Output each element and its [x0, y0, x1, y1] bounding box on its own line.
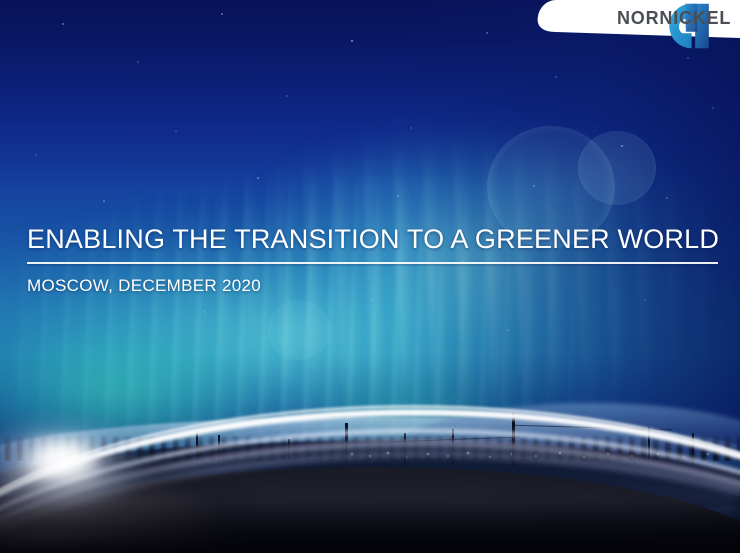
slide-subtitle: MOSCOW, DECEMBER 2020: [27, 276, 719, 296]
presentation-cover-slide: NORNICKEL ENABLING THE TRANSITION TO A G…: [0, 0, 740, 553]
nornickel-n-logo-icon: [573, 3, 607, 35]
title-block: ENABLING THE TRANSITION TO A GREENER WOR…: [27, 222, 719, 296]
headlight-core: [26, 436, 100, 480]
slide-title: ENABLING THE TRANSITION TO A GREENER WOR…: [27, 222, 719, 256]
brand-logo-banner: NORNICKEL: [500, 0, 740, 46]
title-divider-rule: [27, 262, 718, 264]
nornickel-wordmark: NORNICKEL: [617, 8, 731, 29]
